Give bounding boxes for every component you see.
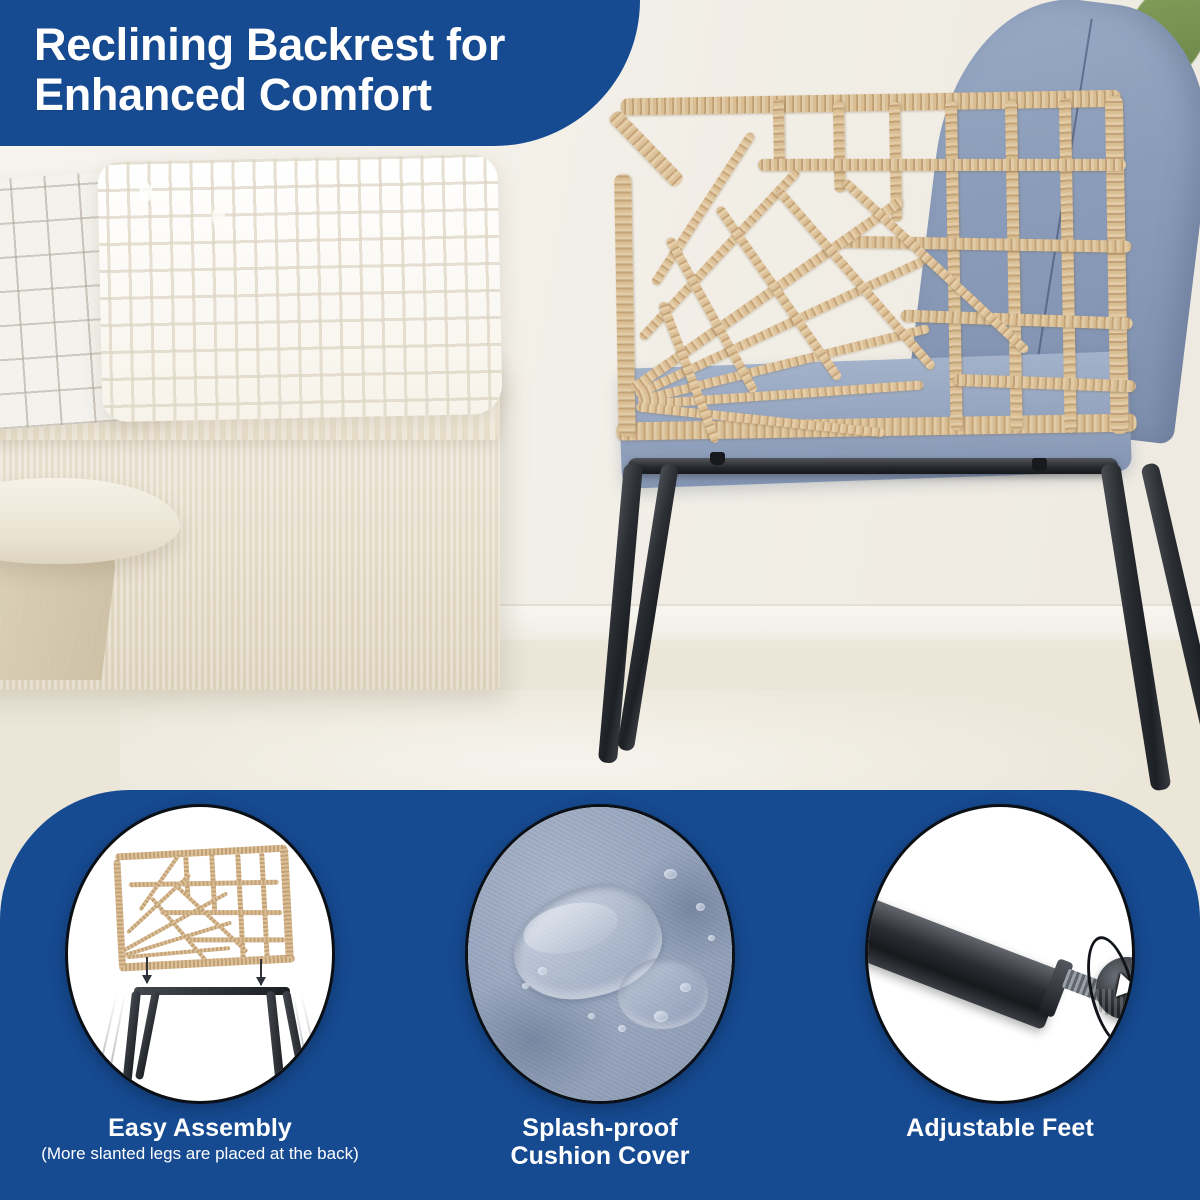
page-title: Reclining Backrest for Enhanced Comfort bbox=[34, 20, 505, 121]
rattan-body-part bbox=[113, 844, 295, 971]
feature-splash-proof-cushion-cover: Splash-proof Cushion Cover bbox=[415, 804, 785, 1172]
metal-leg-frame-part bbox=[126, 987, 296, 1099]
feature-title: Splash-proof Cushion Cover bbox=[510, 1114, 689, 1170]
title-line-2: Enhanced Comfort bbox=[34, 69, 432, 120]
feature-title: Adjustable Feet bbox=[906, 1114, 1094, 1142]
feature-easy-assembly: Easy Assembly (More slanted legs are pla… bbox=[15, 804, 385, 1164]
chair-metal-leg-frame bbox=[600, 60, 1200, 820]
chair-assembly-icon bbox=[65, 804, 335, 1104]
feature-adjustable-feet: Adjustable Feet bbox=[815, 804, 1185, 1144]
chunky-knit-pillow bbox=[97, 154, 502, 422]
feature-title: Easy Assembly bbox=[41, 1114, 359, 1142]
feature-list: Easy Assembly (More slanted legs are pla… bbox=[0, 790, 1200, 1200]
title-line-1: Reclining Backrest for bbox=[34, 19, 505, 70]
adjustable-foot-icon bbox=[865, 804, 1135, 1104]
feature-caption: Easy Assembly (More slanted legs are pla… bbox=[41, 1114, 359, 1164]
assembly-arrow-left-icon bbox=[146, 957, 148, 983]
product-feature-graphic: Reclining Backrest for Enhanced Comfort bbox=[0, 0, 1200, 1200]
feature-caption: Splash-proof Cushion Cover bbox=[510, 1114, 689, 1172]
rattan-accent-chair bbox=[600, 60, 1200, 820]
feature-subtitle: (More slanted legs are placed at the bac… bbox=[41, 1144, 359, 1164]
title-banner: Reclining Backrest for Enhanced Comfort bbox=[0, 0, 640, 146]
water-beading-icon bbox=[465, 804, 735, 1104]
feature-panel: Easy Assembly (More slanted legs are pla… bbox=[0, 790, 1200, 1200]
chair-leg-tube bbox=[865, 897, 1065, 1030]
feature-caption: Adjustable Feet bbox=[906, 1114, 1094, 1144]
assembly-arrow-right-icon bbox=[260, 959, 262, 985]
hero-photo-scene: Reclining Backrest for Enhanced Comfort bbox=[0, 0, 1200, 880]
